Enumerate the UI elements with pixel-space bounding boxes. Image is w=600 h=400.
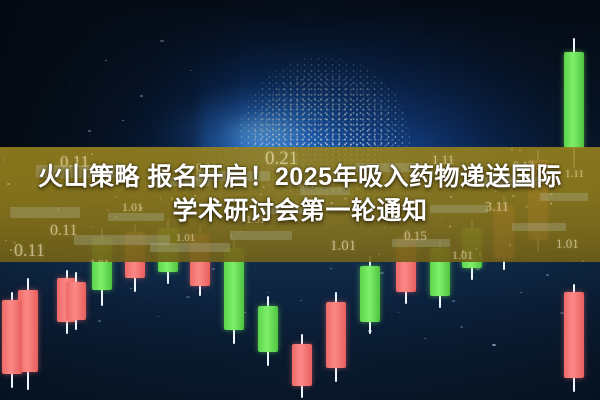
gold-speck <box>10 249 11 250</box>
floating-number: 1.01 <box>556 236 579 252</box>
page-title: 火山策略 报名开启！2025年吸入药物递送国际 学术研讨会第一轮通知 <box>0 160 600 228</box>
candlestick-bar <box>292 334 312 398</box>
candlestick-bar <box>258 296 278 366</box>
floating-number: 0.11 <box>14 240 45 261</box>
gold-speck <box>582 260 584 262</box>
candlestick-body <box>564 52 584 148</box>
gold-speck <box>476 248 478 250</box>
candlestick-bar <box>360 256 380 334</box>
headline-line-1: 火山策略 报名开启！2025年吸入药物递送国际 <box>0 160 600 194</box>
gold-speck <box>140 233 141 234</box>
gold-speck <box>13 241 15 243</box>
floating-number: 1.01 <box>330 238 356 255</box>
gold-speck <box>236 147 237 148</box>
candlestick-body <box>360 266 380 322</box>
candlestick-bar <box>66 272 86 330</box>
gold-speck <box>509 244 511 246</box>
gold-speck <box>219 156 220 157</box>
candlestick-body <box>326 302 346 368</box>
candlestick-body <box>564 292 584 378</box>
blurred-chart-bar <box>392 239 450 247</box>
candlestick-bar <box>564 284 584 392</box>
candlestick-bar <box>2 292 22 388</box>
blurred-chart-bar <box>230 231 292 240</box>
gold-speck <box>5 240 7 242</box>
gold-speck <box>203 149 204 150</box>
floating-number: 1.01 <box>90 258 109 262</box>
gold-speck <box>91 153 93 155</box>
gold-speck <box>378 254 379 255</box>
gold-speck <box>537 238 538 239</box>
gold-speck <box>462 250 464 252</box>
candlestick-body <box>66 282 86 320</box>
gold-speck <box>519 150 521 152</box>
candlestick-body <box>258 306 278 352</box>
candlestick-body <box>2 300 22 374</box>
blurred-chart-bar <box>150 243 230 252</box>
candlestick-bar <box>326 292 346 382</box>
gold-speck <box>479 253 481 255</box>
gold-speck <box>511 148 514 151</box>
headline-line-2: 学术研讨会第一轮通知 <box>0 194 600 228</box>
candlestick-body <box>292 344 312 386</box>
stock-banner: 0.111.010.111.010.111.010.210.111.113.11… <box>0 0 600 400</box>
